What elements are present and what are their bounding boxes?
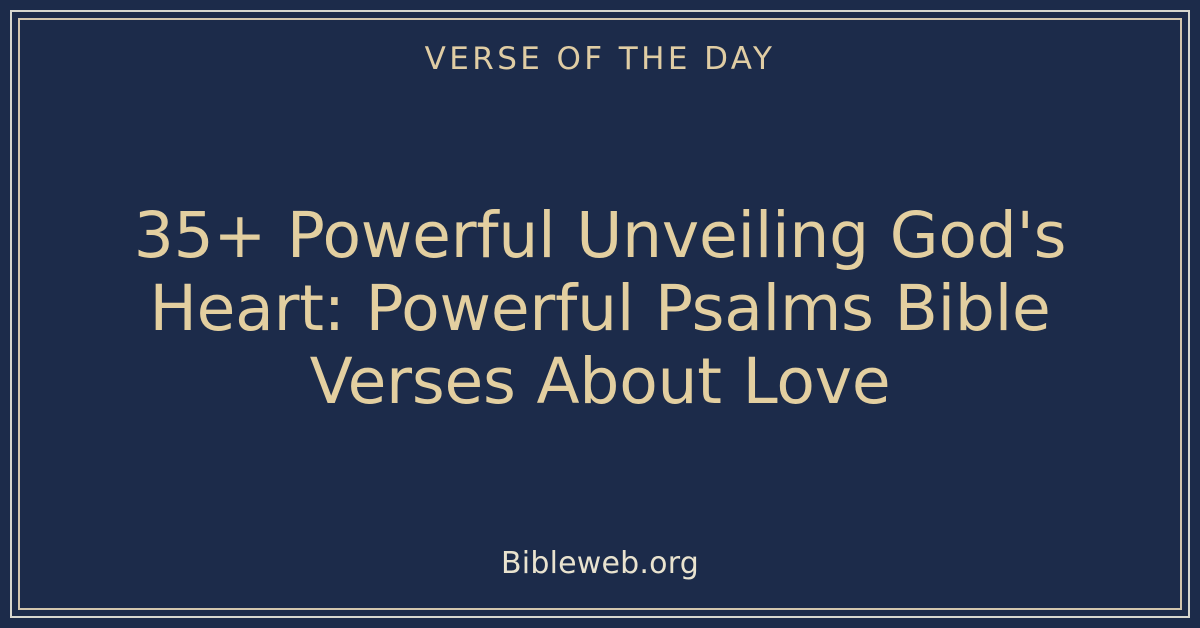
verse-of-the-day-poster: VERSE OF THE DAY 35+ Powerful Unveiling … [0, 0, 1200, 628]
site-attribution: Bibleweb.org [501, 547, 699, 580]
poster-content: VERSE OF THE DAY 35+ Powerful Unveiling … [22, 22, 1178, 606]
page-title: 35+ Powerful Unveiling God's Heart: Powe… [72, 199, 1128, 418]
title-container: 35+ Powerful Unveiling God's Heart: Powe… [22, 70, 1178, 547]
